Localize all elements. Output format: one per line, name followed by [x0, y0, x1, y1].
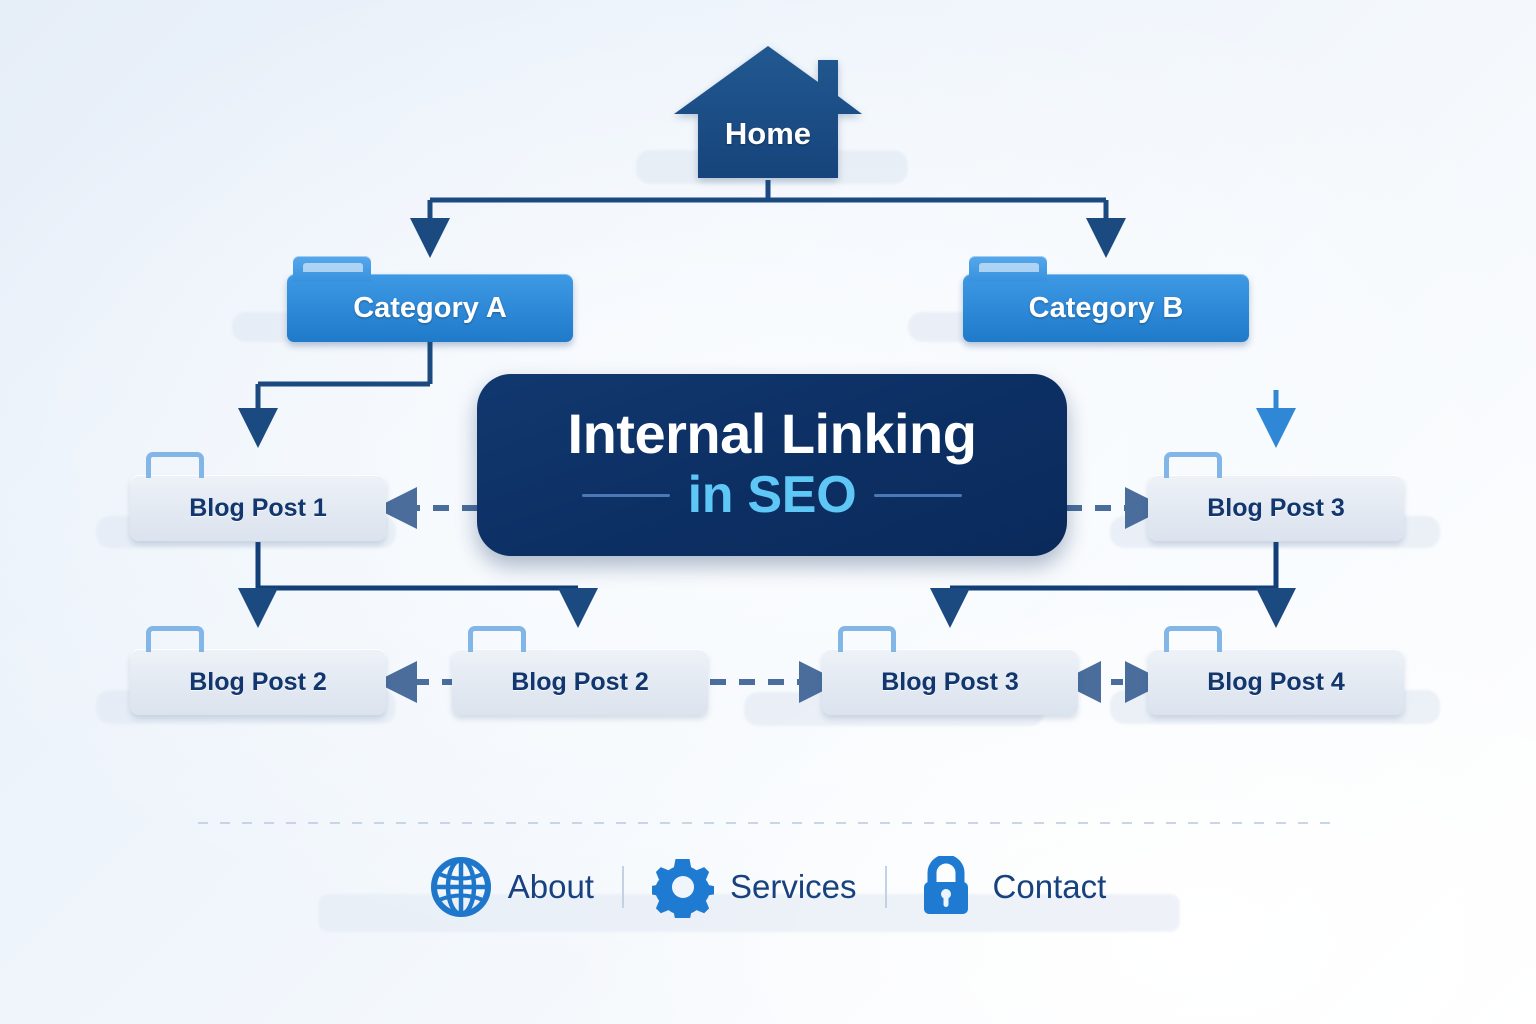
globe-icon — [430, 856, 492, 918]
node-post-2-left-label: Blog Post 2 — [189, 668, 327, 697]
node-home[interactable]: Home — [672, 44, 864, 180]
badge-line-2-row: in SEO — [582, 465, 963, 525]
node-home-label: Home — [672, 116, 864, 152]
node-category-b-label: Category B — [1029, 292, 1184, 325]
document-handle-icon — [1164, 452, 1222, 478]
badge-line-1: Internal Linking — [568, 405, 977, 464]
footer-item-contact-label: Contact — [993, 868, 1107, 906]
footer-item-about[interactable]: About — [430, 856, 594, 918]
node-category-b[interactable]: Category B — [963, 274, 1249, 342]
node-post-3-mid[interactable]: Blog Post 3 — [1148, 475, 1404, 541]
node-post-1[interactable]: Blog Post 1 — [130, 475, 386, 541]
infographic-canvas: Home Category A Category B Blog Post 1 B… — [0, 0, 1536, 1024]
badge-line-2-prefix: in — [688, 466, 748, 524]
node-post-2-left[interactable]: Blog Post 2 — [130, 649, 386, 715]
footer-item-about-label: About — [508, 868, 594, 906]
footer-divider — [198, 822, 1338, 824]
node-post-4[interactable]: Blog Post 4 — [1148, 649, 1404, 715]
badge-rule-left — [582, 494, 670, 497]
node-post-2-mid-label: Blog Post 2 — [511, 668, 649, 697]
footer-item-services-label: Services — [730, 868, 857, 906]
node-post-3-bottom[interactable]: Blog Post 3 — [822, 649, 1078, 715]
folder-icon — [293, 256, 371, 282]
node-post-1-label: Blog Post 1 — [189, 494, 327, 523]
footer-separator-1 — [622, 866, 624, 908]
footer-item-services[interactable]: Services — [652, 856, 857, 918]
badge-line-2-accent: SEO — [747, 466, 856, 524]
footer-item-contact[interactable]: Contact — [915, 856, 1107, 918]
house-icon — [672, 44, 864, 180]
document-handle-icon — [838, 626, 896, 652]
lock-icon — [915, 856, 977, 918]
folder-icon — [969, 256, 1047, 282]
document-handle-icon — [146, 452, 204, 478]
footer-separator-2 — [885, 866, 887, 908]
node-post-3-bottom-label: Blog Post 3 — [881, 668, 1019, 697]
center-title-badge: Internal Linking in SEO — [477, 374, 1067, 556]
footer-nav: About Services — [0, 856, 1536, 918]
node-category-a-label: Category A — [353, 292, 507, 325]
node-post-3-mid-label: Blog Post 3 — [1207, 494, 1345, 523]
document-handle-icon — [146, 626, 204, 652]
gear-icon — [652, 856, 714, 918]
document-handle-icon — [1164, 626, 1222, 652]
node-post-2-mid[interactable]: Blog Post 2 — [452, 649, 708, 715]
badge-line-2: in SEO — [688, 465, 857, 525]
document-handle-icon — [468, 626, 526, 652]
node-post-4-label: Blog Post 4 — [1207, 668, 1345, 697]
badge-rule-right — [874, 494, 962, 497]
node-category-a[interactable]: Category A — [287, 274, 573, 342]
